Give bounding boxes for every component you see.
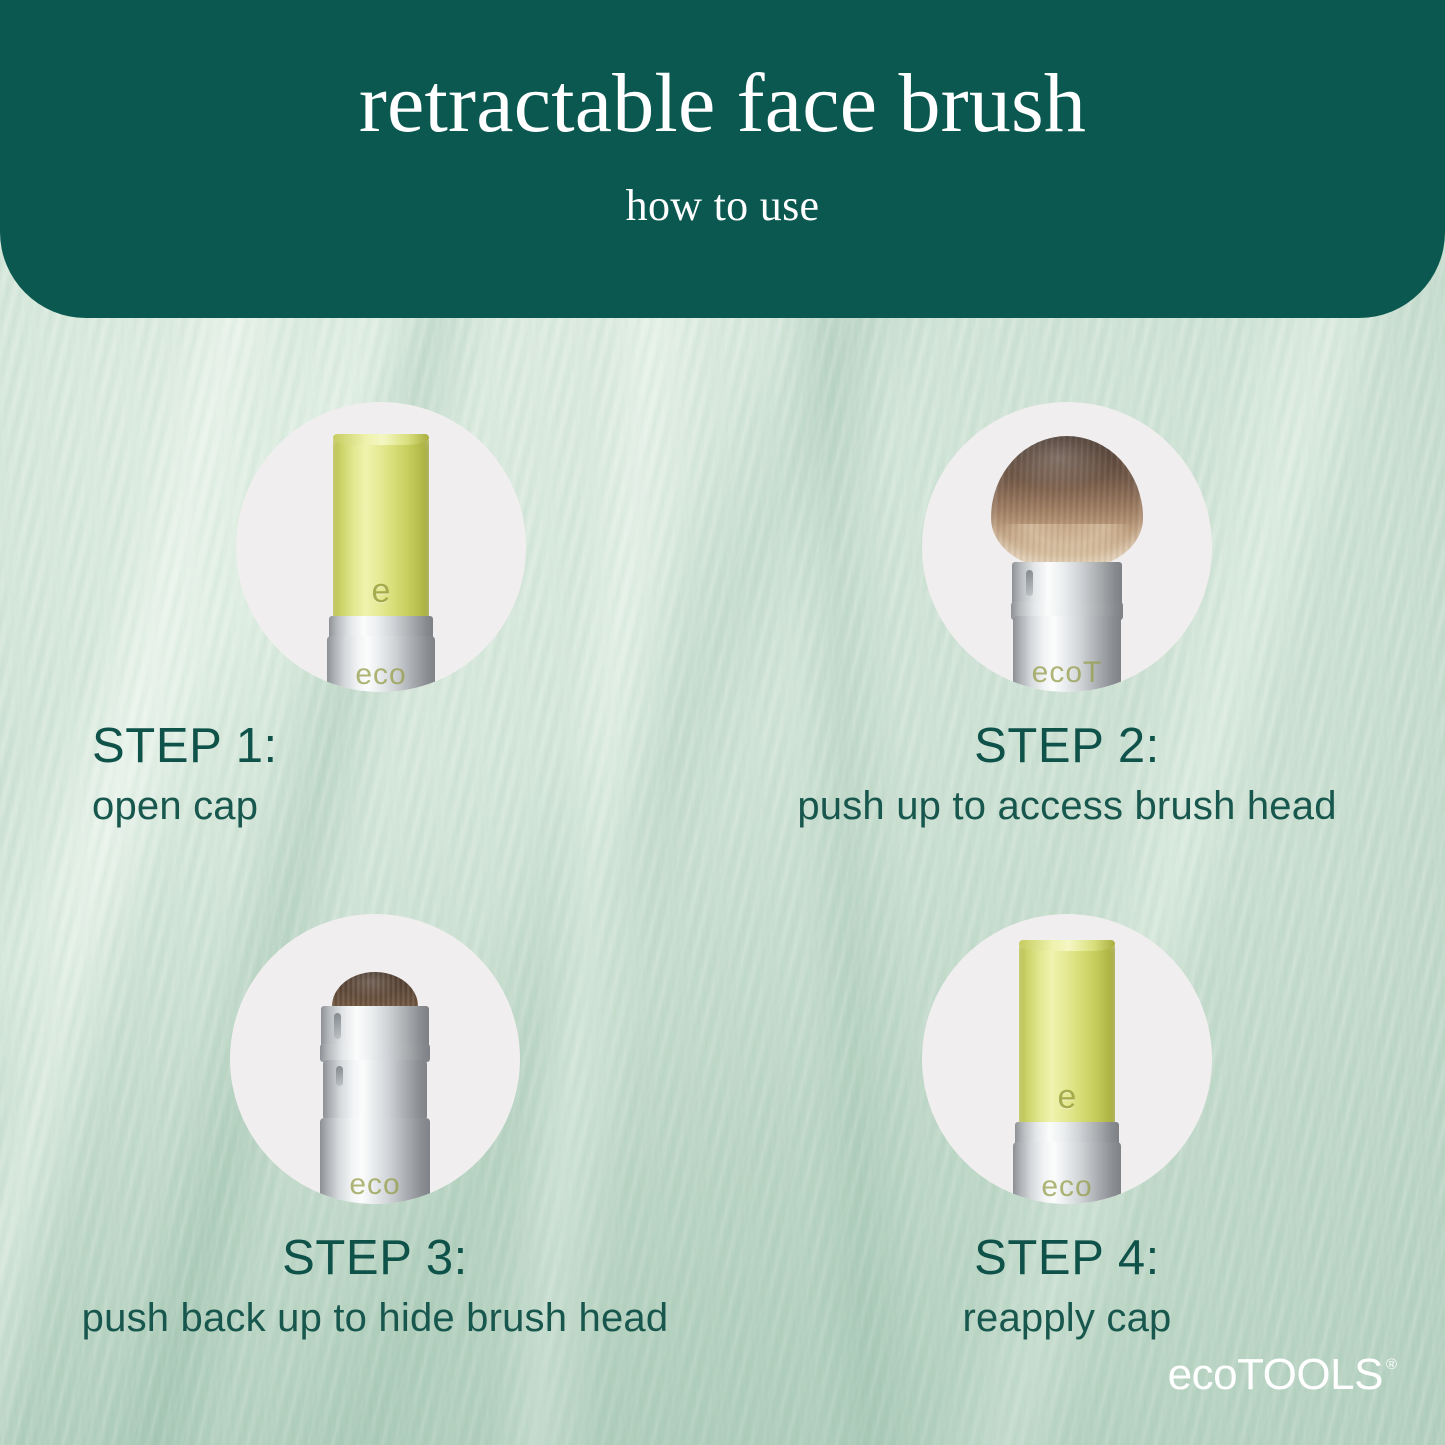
product-barrel-upper [323,1060,427,1120]
step-1-caption: STEP 1: open cap [20,722,742,827]
ferrule-slot [1026,570,1033,596]
cap-logo-e: e [372,574,391,608]
step-3-image-disc: eco [230,914,520,1204]
product-barrel: eco [1013,1142,1121,1204]
product-barrel: ecoT [1013,616,1121,692]
step-4-image-disc: e eco [922,914,1212,1204]
registered-trademark-icon: ® [1386,1357,1397,1372]
barrel-logo-eco: eco [355,660,406,690]
ecotools-logo: eco TOOLS ® [1168,1353,1397,1397]
step-3-title: STEP 3: [14,1234,736,1284]
step-2-desc: push up to access brush head [706,785,1428,827]
product-cap: e [1019,940,1115,1148]
step-1-image-disc: e eco [236,402,526,692]
step-4-desc: reapply cap [706,1297,1428,1339]
step-card-1: e eco STEP 1: open cap [20,402,742,827]
step-card-4: e eco STEP 4: reapply cap [706,914,1428,1339]
barrel-slot [336,1066,343,1086]
product-barrel: eco [327,636,435,692]
header-panel: retractable face brush how to use [0,0,1445,318]
step-2-title: STEP 2: [706,722,1428,772]
step-card-2: ecoT STEP 2: push up to access brush hea… [706,402,1428,827]
infographic-canvas: retractable face brush how to use e eco … [0,0,1445,1445]
product-brush-head [991,436,1143,568]
page-subtitle: how to use [626,184,820,228]
step-2-image-disc: ecoT [922,402,1212,692]
barrel-logo-eco: eco [1041,1172,1092,1202]
product-cap: e [333,434,429,642]
step-card-3: eco STEP 3: push back up to hide brush h… [14,914,736,1339]
product-barrel: eco [320,1118,430,1204]
step-1-title: STEP 1: [92,722,742,772]
steps-grid: e eco STEP 1: open cap ecoT [0,330,1445,1370]
product-ferrule [321,1006,429,1048]
cap-logo-e: e [1058,1080,1077,1114]
step-3-desc: push back up to hide brush head [14,1297,736,1339]
ferrule-slot [334,1013,341,1039]
step-4-title: STEP 4: [706,1234,1428,1284]
logo-text-tools: TOOLS [1237,1353,1383,1397]
page-title: retractable face brush [359,62,1086,146]
step-2-caption: STEP 2: push up to access brush head [706,722,1428,827]
step-3-caption: STEP 3: push back up to hide brush head [14,1234,736,1339]
barrel-logo-eco: eco [349,1170,400,1200]
logo-text-eco: eco [1168,1353,1237,1397]
step-1-desc: open cap [92,785,742,827]
barrel-logo-eco: ecoT [1032,658,1103,688]
step-4-caption: STEP 4: reapply cap [706,1234,1428,1339]
product-ferrule [1012,562,1122,606]
